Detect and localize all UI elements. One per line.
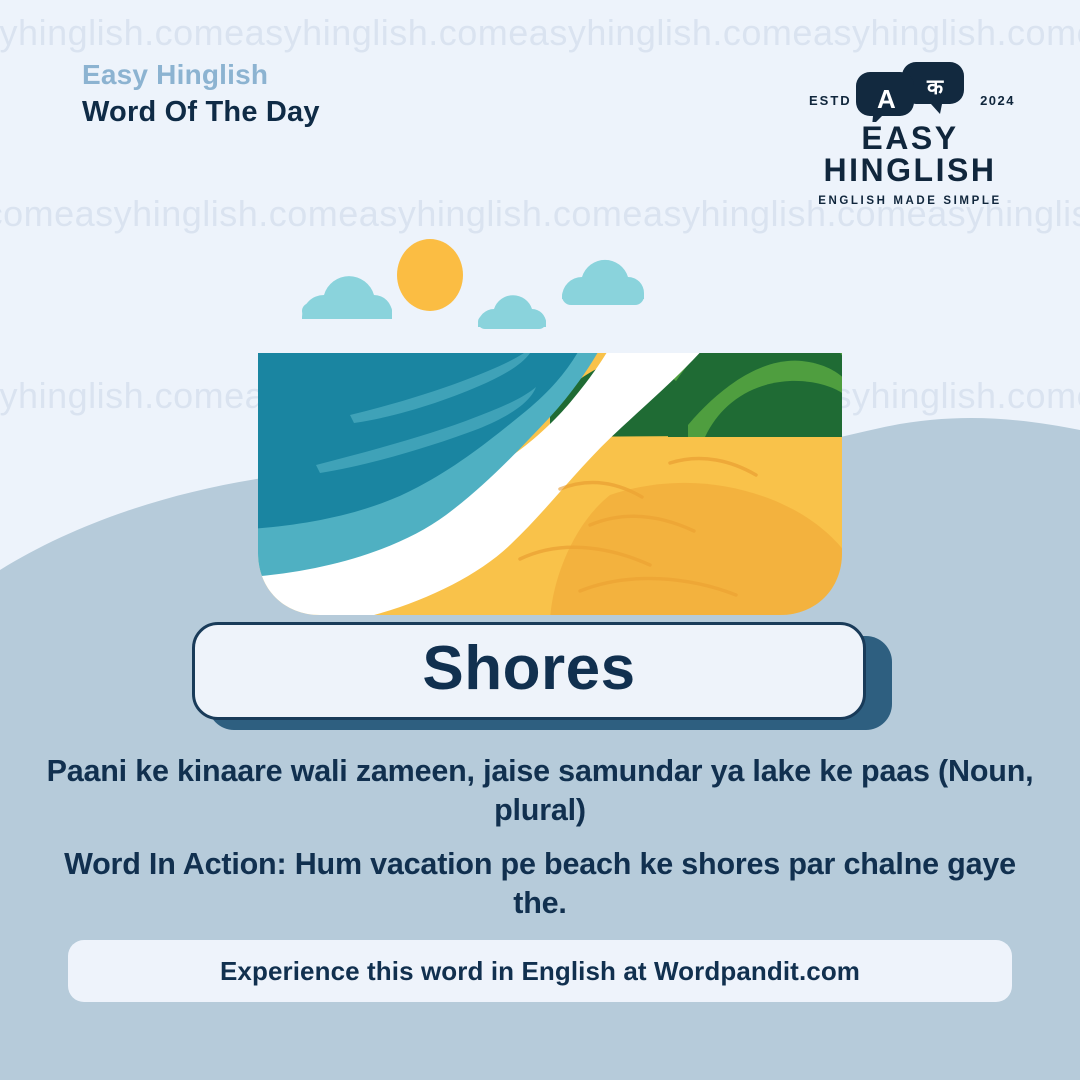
word-of-the-day: Shores — [422, 638, 635, 704]
cta-bar[interactable]: Experience this word in English at Wordp… — [68, 940, 1012, 1002]
cloud-icon — [478, 295, 546, 329]
logo-year-label: 2024 — [980, 93, 1015, 108]
logo-mark: ESTD 2024 क A — [795, 60, 1025, 120]
word-card-body: Shores — [192, 622, 866, 720]
cta-label: Experience this word in English at Wordp… — [220, 956, 860, 987]
bubble-english-char: A — [877, 84, 896, 114]
speech-bubbles-icon: क A — [854, 60, 966, 122]
logo-estd-label: ESTD — [809, 93, 852, 108]
brand-block: Easy Hinglish Word Of The Day — [82, 58, 320, 132]
watermark-text: easyhinglish.com — [0, 193, 54, 235]
word-meaning: Paani ke kinaare wali zameen, jaise samu… — [40, 752, 1040, 830]
beach-illustration — [250, 225, 850, 625]
word-card: Shores — [192, 622, 892, 730]
bubble-hindi-char: क — [926, 76, 944, 99]
logo: ESTD 2024 क A EASY HINGLISH ENGLISH MADE… — [795, 60, 1025, 207]
word-of-the-day-card: easyhinglish.comeasyhinglish.comeasyhing… — [0, 0, 1080, 1080]
word-usage: Word In Action: Hum vacation pe beach ke… — [50, 845, 1030, 923]
brand-title: Easy Hinglish — [82, 58, 320, 92]
sun-icon — [397, 239, 463, 311]
cloud-icon — [302, 276, 392, 319]
cloud-icon — [562, 260, 644, 305]
header: Easy Hinglish Word Of The Day ESTD 2024 … — [0, 0, 1080, 180]
page-title: Word Of The Day — [82, 94, 320, 132]
logo-tagline: ENGLISH MADE SIMPLE — [795, 195, 1025, 207]
logo-name: EASY HINGLISH — [795, 122, 1025, 186]
